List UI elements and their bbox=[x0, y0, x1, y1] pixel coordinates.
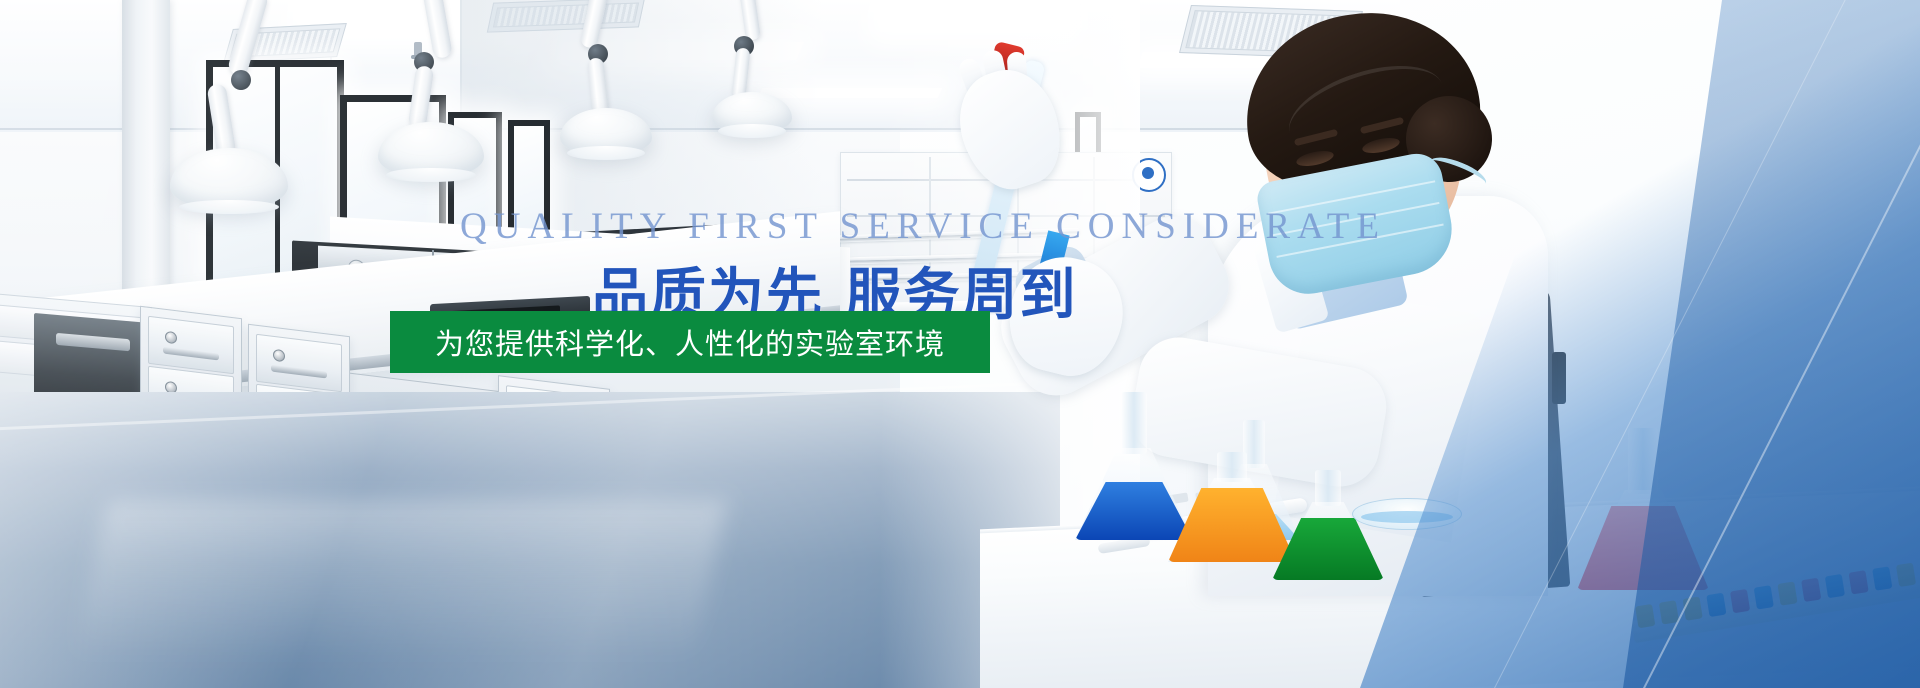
hero-banner: QUALITY FIRST SERVICE CONSIDERATE 品质为先 服… bbox=[0, 0, 1920, 688]
text-overlay: QUALITY FIRST SERVICE CONSIDERATE 品质为先 服… bbox=[0, 0, 1920, 688]
banner-subtitle-text: 为您提供科学化、人性化的实验室环境 bbox=[435, 321, 945, 363]
banner-subtitle-bar: 为您提供科学化、人性化的实验室环境 bbox=[390, 311, 990, 373]
banner-eyebrow-text: QUALITY FIRST SERVICE CONSIDERATE bbox=[460, 205, 1386, 248]
